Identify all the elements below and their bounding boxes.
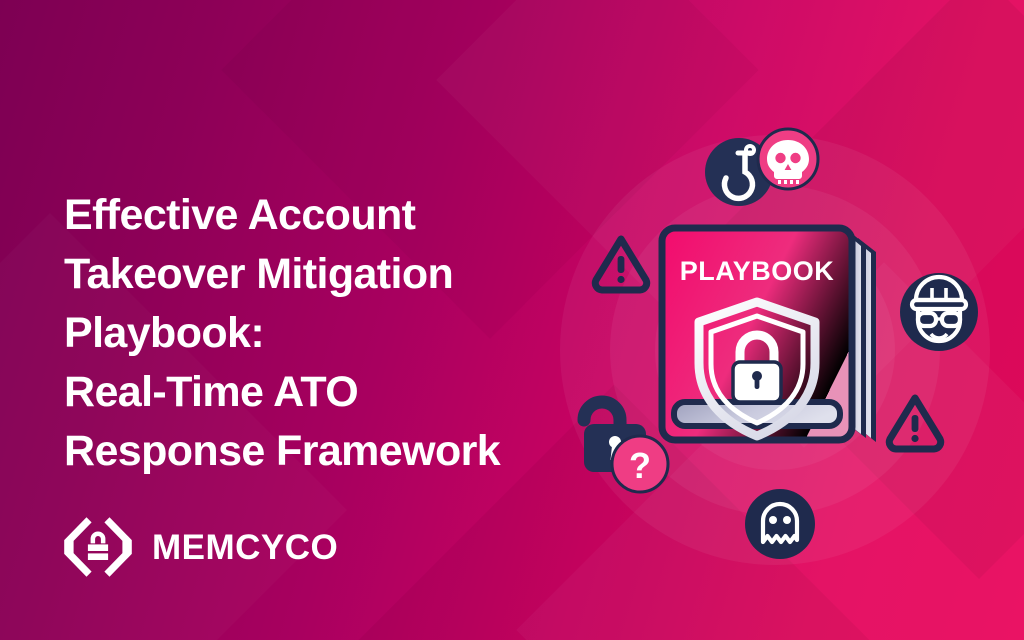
brand-logo[interactable]: MEMCYCO [62, 514, 338, 580]
brand-name: MEMCYCO [152, 530, 338, 565]
headline-line-1: Effective Account [64, 186, 624, 245]
skull-badge [758, 129, 818, 189]
playbook-book: PLAYBOOK [662, 228, 876, 442]
ghost-badge [745, 489, 815, 559]
hacker-badge [900, 273, 978, 351]
warning-right [889, 398, 940, 449]
promo-banner: Effective Account Takeover Mitigation Pl… [0, 0, 1024, 640]
book-cover-label: PLAYBOOK [680, 256, 835, 286]
angle-brackets-padlock-icon [62, 514, 134, 580]
headline-line-4: Real-Time ATO [64, 363, 624, 422]
headline-line-2: Takeover Mitigation [64, 245, 624, 304]
page-title: Effective Account Takeover Mitigation Pl… [64, 186, 624, 481]
headline-line-3: Playbook: [64, 304, 624, 363]
headline-line-5: Response Framework [64, 422, 624, 481]
question-mark-icon: ? [629, 445, 651, 486]
